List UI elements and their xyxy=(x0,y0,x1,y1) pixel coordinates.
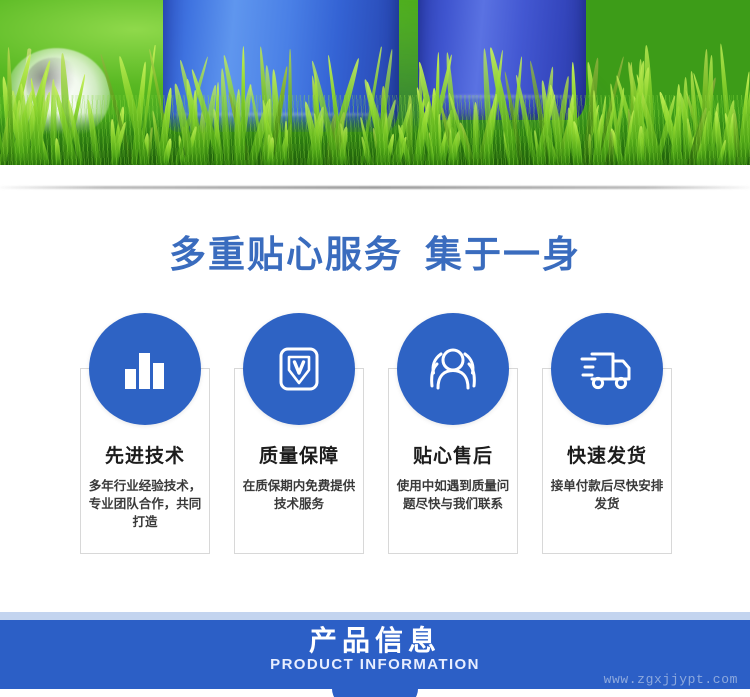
banner-title-en: PRODUCT INFORMATION xyxy=(0,656,750,673)
feature-card-quality-guarantee[interactable]: 质量保障 在质保期内免费提供技术服务 xyxy=(234,368,364,554)
banner-top-border xyxy=(0,612,750,620)
delivery-truck-icon xyxy=(551,313,663,425)
hero-banner-image xyxy=(0,0,750,165)
page-title-part-1: 多重贴心服务 xyxy=(169,233,403,276)
feature-card-fast-shipping[interactable]: 快速发货 接单付款后尽快安排发货 xyxy=(542,368,672,554)
grass-texture xyxy=(0,95,750,165)
feature-card-description: 使用中如遇到质量问题尽快与我们联系 xyxy=(389,477,517,513)
page-title: 多重贴心服务集于一身 xyxy=(0,224,750,278)
feature-card-description: 多年行业经验技术，专业团队合作，共同打造 xyxy=(81,477,209,531)
feature-card-title: 质量保障 xyxy=(235,445,363,468)
shield-check-icon xyxy=(243,313,355,425)
feature-card-description: 在质保期内免费提供技术服务 xyxy=(235,477,363,513)
banner-text-group: 产品信息 PRODUCT INFORMATION xyxy=(0,620,750,673)
section-divider xyxy=(0,186,750,189)
feature-card-advanced-technology[interactable]: 先进技术 多年行业经验技术，专业团队合作，共同打造 xyxy=(80,368,210,554)
feature-card-title: 快速发货 xyxy=(543,445,671,468)
product-detail-page: 多重贴心服务集于一身 先进技术 多年行业经验技术，专业团队合作，共同打造 xyxy=(0,0,750,697)
feature-card-description: 接单付款后尽快安排发货 xyxy=(543,477,671,513)
page-title-part-2: 集于一身 xyxy=(425,233,581,276)
feature-card-after-sales[interactable]: 贴心售后 使用中如遇到质量问题尽快与我们联系 xyxy=(388,368,518,554)
people-group-icon xyxy=(397,313,509,425)
product-information-banner: 产品信息 PRODUCT INFORMATION www.zgxjjypt.co… xyxy=(0,612,750,697)
watermark-url: www.zgxjjypt.com xyxy=(604,672,738,687)
bar-chart-icon xyxy=(89,313,201,425)
banner-notch xyxy=(332,689,418,697)
banner-title-cn: 产品信息 xyxy=(0,626,750,655)
feature-card-title: 贴心售后 xyxy=(389,445,517,468)
feature-card-title: 先进技术 xyxy=(81,445,209,468)
feature-card-list: 先进技术 多年行业经验技术，专业团队合作，共同打造 质量保障 在质保期内免费提供… xyxy=(80,368,672,558)
